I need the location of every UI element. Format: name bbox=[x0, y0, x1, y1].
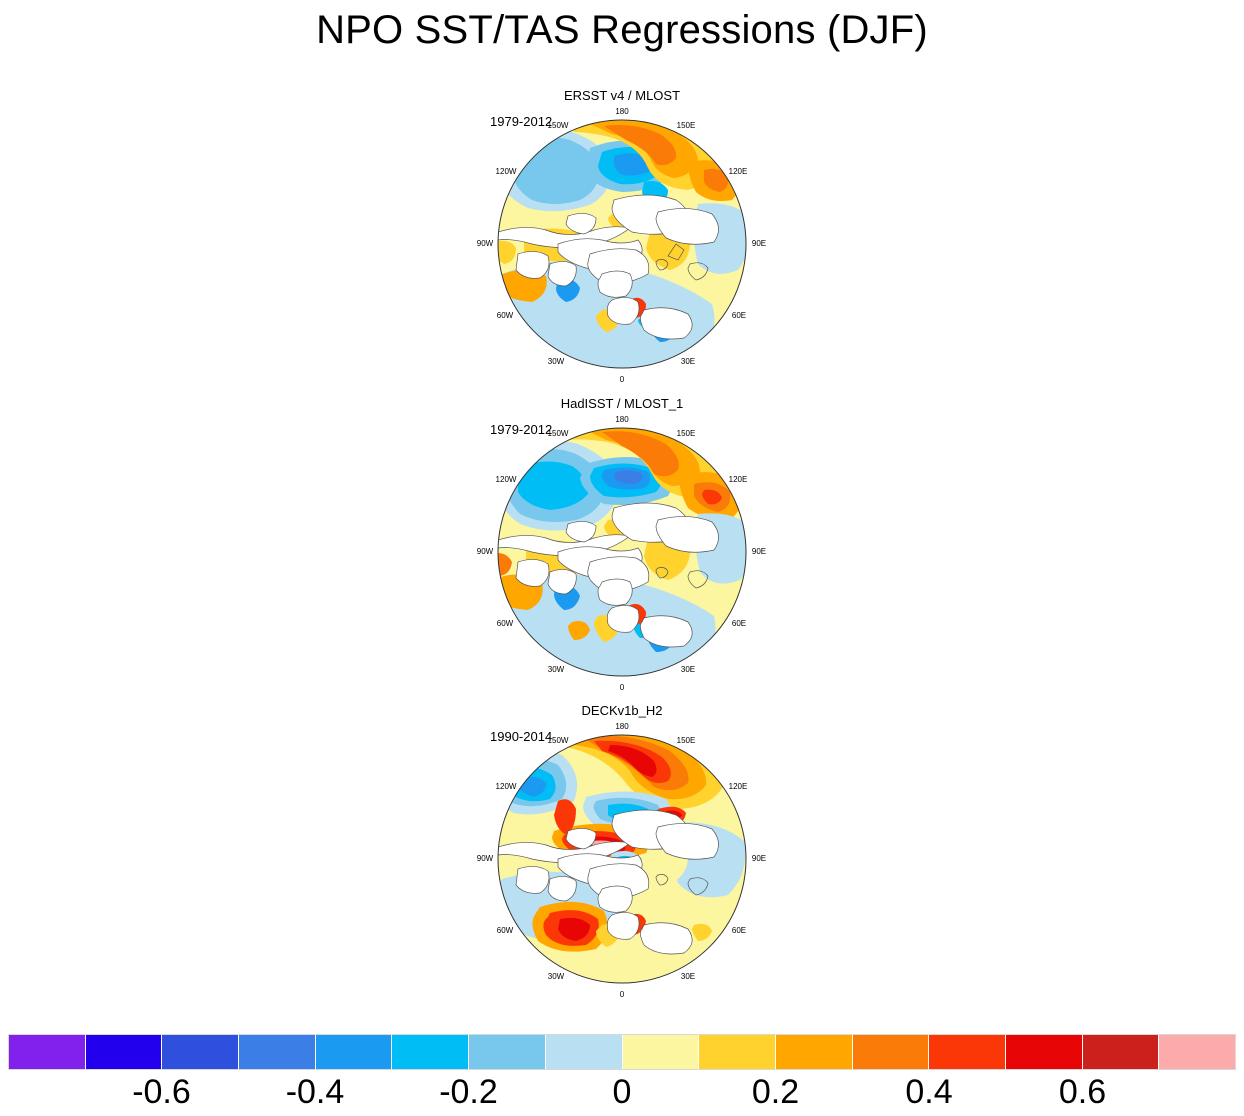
svg-text:60E: 60E bbox=[732, 311, 746, 320]
polar-map-svg: 180 150E 120E 90E 60E 30E 0 30W 60W 90W … bbox=[462, 104, 782, 399]
polar-map-svg: 180150E 120E90E 60E30E 030W 60W90W 120W1… bbox=[462, 412, 782, 707]
svg-text:90E: 90E bbox=[752, 854, 766, 863]
polar-map: 180150E 120E90E 60E30E 030W 60W90W 120W1… bbox=[462, 412, 782, 707]
colorbar-tick: 0.2 bbox=[752, 1070, 799, 1114]
colorbar-swatch bbox=[1159, 1035, 1235, 1069]
colorbar-swatch bbox=[9, 1035, 86, 1069]
svg-text:60W: 60W bbox=[497, 926, 514, 935]
colorbar-tick-labels: -0.6-0.4-0.200.20.40.6 bbox=[8, 1070, 1236, 1116]
svg-text:30E: 30E bbox=[681, 357, 695, 366]
polar-map-svg: 180150E 120E90E 60E30E 030W 60W90W 120W1… bbox=[462, 719, 782, 1014]
svg-text:150E: 150E bbox=[677, 121, 696, 130]
colorbar-swatch bbox=[546, 1035, 623, 1069]
svg-text:120W: 120W bbox=[496, 782, 517, 791]
colorbar-swatch bbox=[239, 1035, 316, 1069]
svg-text:60W: 60W bbox=[497, 311, 514, 320]
svg-text:30W: 30W bbox=[548, 357, 565, 366]
colorbar-swatch bbox=[853, 1035, 930, 1069]
colorbar-tick: 0 bbox=[613, 1070, 632, 1114]
panel-title: HadISST / MLOST_1 bbox=[0, 396, 1244, 412]
polar-map: 180 150E 120E 90E 60E 30E 0 30W 60W 90W … bbox=[462, 104, 782, 399]
svg-text:0: 0 bbox=[620, 990, 625, 999]
colorbar-swatch bbox=[86, 1035, 163, 1069]
svg-text:0: 0 bbox=[620, 683, 625, 692]
colorbar-swatch bbox=[699, 1035, 776, 1069]
svg-text:90E: 90E bbox=[752, 239, 766, 248]
colorbar-tick: 0.6 bbox=[1059, 1070, 1106, 1114]
colorbar-swatch bbox=[776, 1035, 853, 1069]
svg-text:150W: 150W bbox=[548, 736, 569, 745]
polar-map: 180150E 120E90E 60E30E 030W 60W90W 120W1… bbox=[462, 719, 782, 1014]
svg-text:180: 180 bbox=[615, 415, 629, 424]
svg-text:60E: 60E bbox=[732, 926, 746, 935]
panel-title: DECKv1b_H2 bbox=[0, 703, 1244, 719]
svg-text:150E: 150E bbox=[677, 736, 696, 745]
colorbar-tick: -0.6 bbox=[132, 1070, 191, 1114]
svg-text:90W: 90W bbox=[477, 854, 494, 863]
svg-text:60E: 60E bbox=[732, 619, 746, 628]
svg-text:180: 180 bbox=[615, 722, 629, 731]
page-title: NPO SST/TAS Regressions (DJF) bbox=[0, 4, 1244, 56]
svg-text:150W: 150W bbox=[548, 429, 569, 438]
svg-text:120E: 120E bbox=[729, 475, 748, 484]
panel-title: ERSST v4 / MLOST bbox=[0, 88, 1244, 104]
svg-text:180: 180 bbox=[615, 107, 629, 116]
colorbar-swatch bbox=[1083, 1035, 1160, 1069]
svg-text:30E: 30E bbox=[681, 665, 695, 674]
svg-text:120E: 120E bbox=[729, 782, 748, 791]
colorbar-swatch bbox=[392, 1035, 469, 1069]
colorbar-swatch bbox=[162, 1035, 239, 1069]
colorbar-swatch bbox=[929, 1035, 1006, 1069]
svg-text:30W: 30W bbox=[548, 972, 565, 981]
svg-text:150E: 150E bbox=[677, 429, 696, 438]
colorbar bbox=[8, 1034, 1236, 1070]
svg-text:0: 0 bbox=[620, 375, 625, 384]
colorbar-swatch bbox=[316, 1035, 393, 1069]
svg-text:60W: 60W bbox=[497, 619, 514, 628]
svg-text:30W: 30W bbox=[548, 665, 565, 674]
svg-text:150W: 150W bbox=[548, 121, 569, 130]
colorbar-swatch bbox=[469, 1035, 546, 1069]
svg-text:120W: 120W bbox=[496, 167, 517, 176]
svg-text:30E: 30E bbox=[681, 972, 695, 981]
svg-text:90W: 90W bbox=[477, 239, 494, 248]
svg-text:120E: 120E bbox=[729, 167, 748, 176]
svg-text:120W: 120W bbox=[496, 475, 517, 484]
colorbar-swatch bbox=[623, 1035, 700, 1069]
colorbar-swatch bbox=[1006, 1035, 1083, 1069]
svg-text:90W: 90W bbox=[477, 547, 494, 556]
colorbar-tick: -0.4 bbox=[286, 1070, 345, 1114]
svg-text:90E: 90E bbox=[752, 547, 766, 556]
colorbar-tick: 0.4 bbox=[905, 1070, 952, 1114]
colorbar-tick: -0.2 bbox=[439, 1070, 498, 1114]
